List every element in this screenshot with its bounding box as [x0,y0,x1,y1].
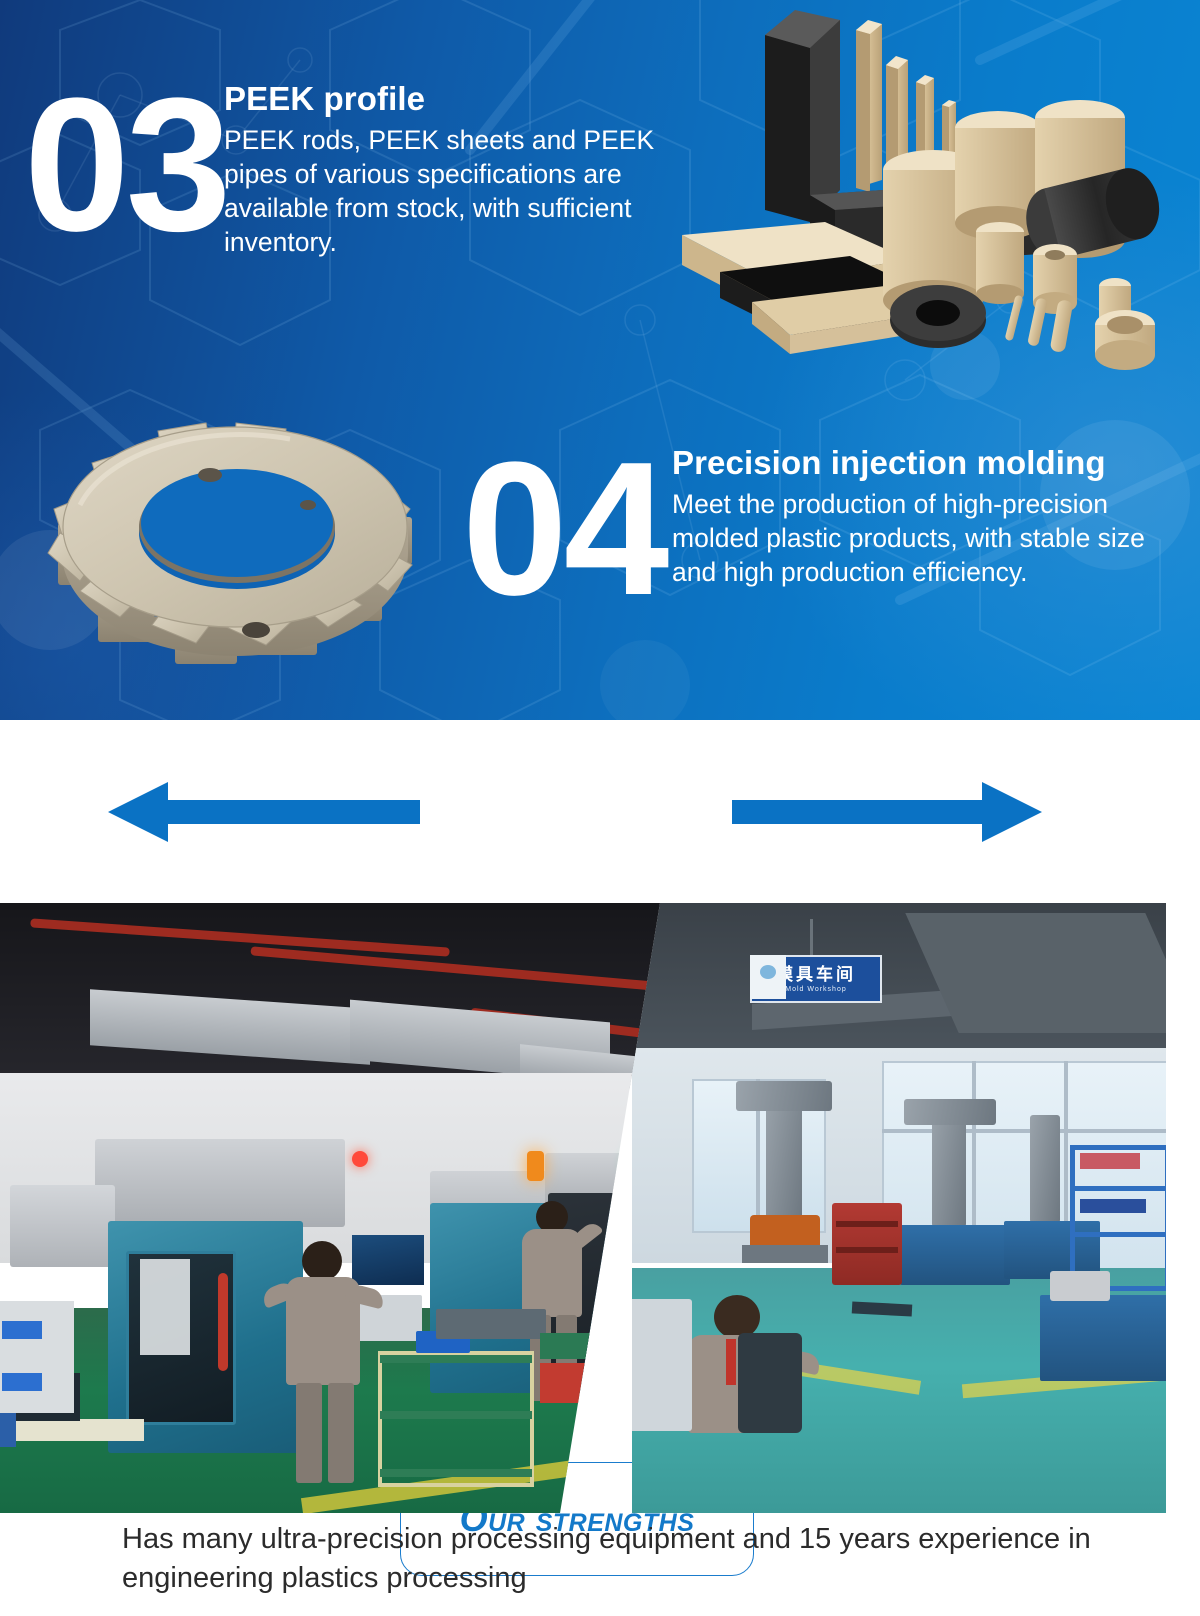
peek-rods-sheets-pipes-photo [660,10,1190,380]
item-title-03: PEEK profile [224,80,656,118]
item-body-04: Meet the production of high-precision mo… [672,488,1172,590]
double-arrow-graphic [0,720,1200,903]
item-number-04: 04 [462,434,665,624]
sign-text-cn: 模具车间 [776,966,856,983]
sign-text-en: Mold Workshop [785,986,847,993]
peek-gear-ring-photo [40,405,430,670]
item-block-03: PEEK profile PEEK rods, PEEK sheets and … [224,80,656,260]
item-title-04: Precision injection molding [672,444,1172,482]
mold-workshop-photo: 模具车间 Mold Workshop [632,903,1166,1513]
hero-blue-section: 03 PEEK profile PEEK rods, PEEK sheets a… [0,0,1200,720]
cnc-machining-workshop-photo [0,903,660,1513]
bottom-caption: Has many ultra-precision processing equi… [122,1520,1102,1597]
promo-page: 03 PEEK profile PEEK rods, PEEK sheets a… [0,0,1200,1616]
item-body-03: PEEK rods, PEEK sheets and PEEK pipes of… [224,124,656,260]
strengths-band: Our strengths [0,720,1200,903]
item-block-04: Precision injection molding Meet the pro… [672,444,1172,590]
item-number-03: 03 [24,70,227,260]
workshop-photo-collage: 模具车间 Mold Workshop [0,903,1166,1513]
decor-circle [600,640,690,720]
